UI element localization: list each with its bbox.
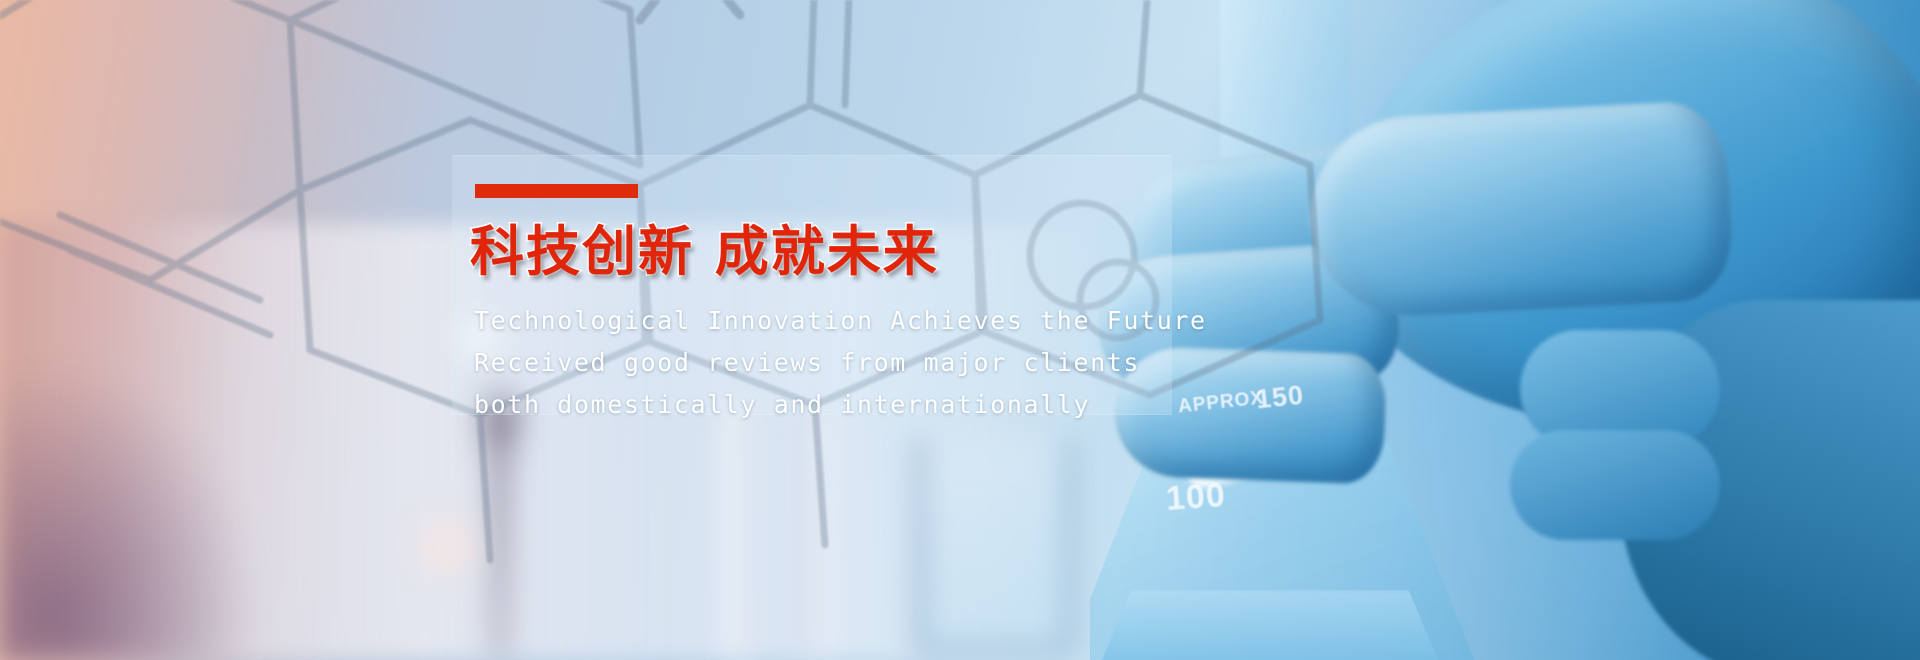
subtitle-block: Technological Innovation Achieves the Fu…: [474, 300, 1207, 426]
lab-test-tube-a: [726, 400, 756, 660]
hero-banner: APPROX 150 100: [0, 0, 1920, 660]
lab-test-tube-b: [800, 410, 828, 660]
glove-thumb: [1305, 99, 1735, 321]
subtitle-line-1: Technological Innovation Achieves the Fu…: [474, 300, 1207, 342]
gloved-hand-with-flask: APPROX 150 100: [1090, 0, 1920, 660]
lab-beaker: [915, 440, 1075, 655]
page-title: 科技创新 成就未来: [470, 207, 939, 286]
subtitle-line-2: Received good reviews from major clients: [474, 342, 1207, 384]
glove-knuckle-b: [1510, 430, 1720, 540]
lab-bokeh-b: [404, 502, 492, 590]
lab-shadow-left: [0, 370, 255, 660]
flask-graduation-upper: 150: [1255, 380, 1306, 416]
subtitle-line-3: both domestically and internationally: [474, 384, 1207, 426]
accent-bar: [475, 184, 638, 198]
flask-graduation-lower: 100: [1165, 476, 1227, 519]
